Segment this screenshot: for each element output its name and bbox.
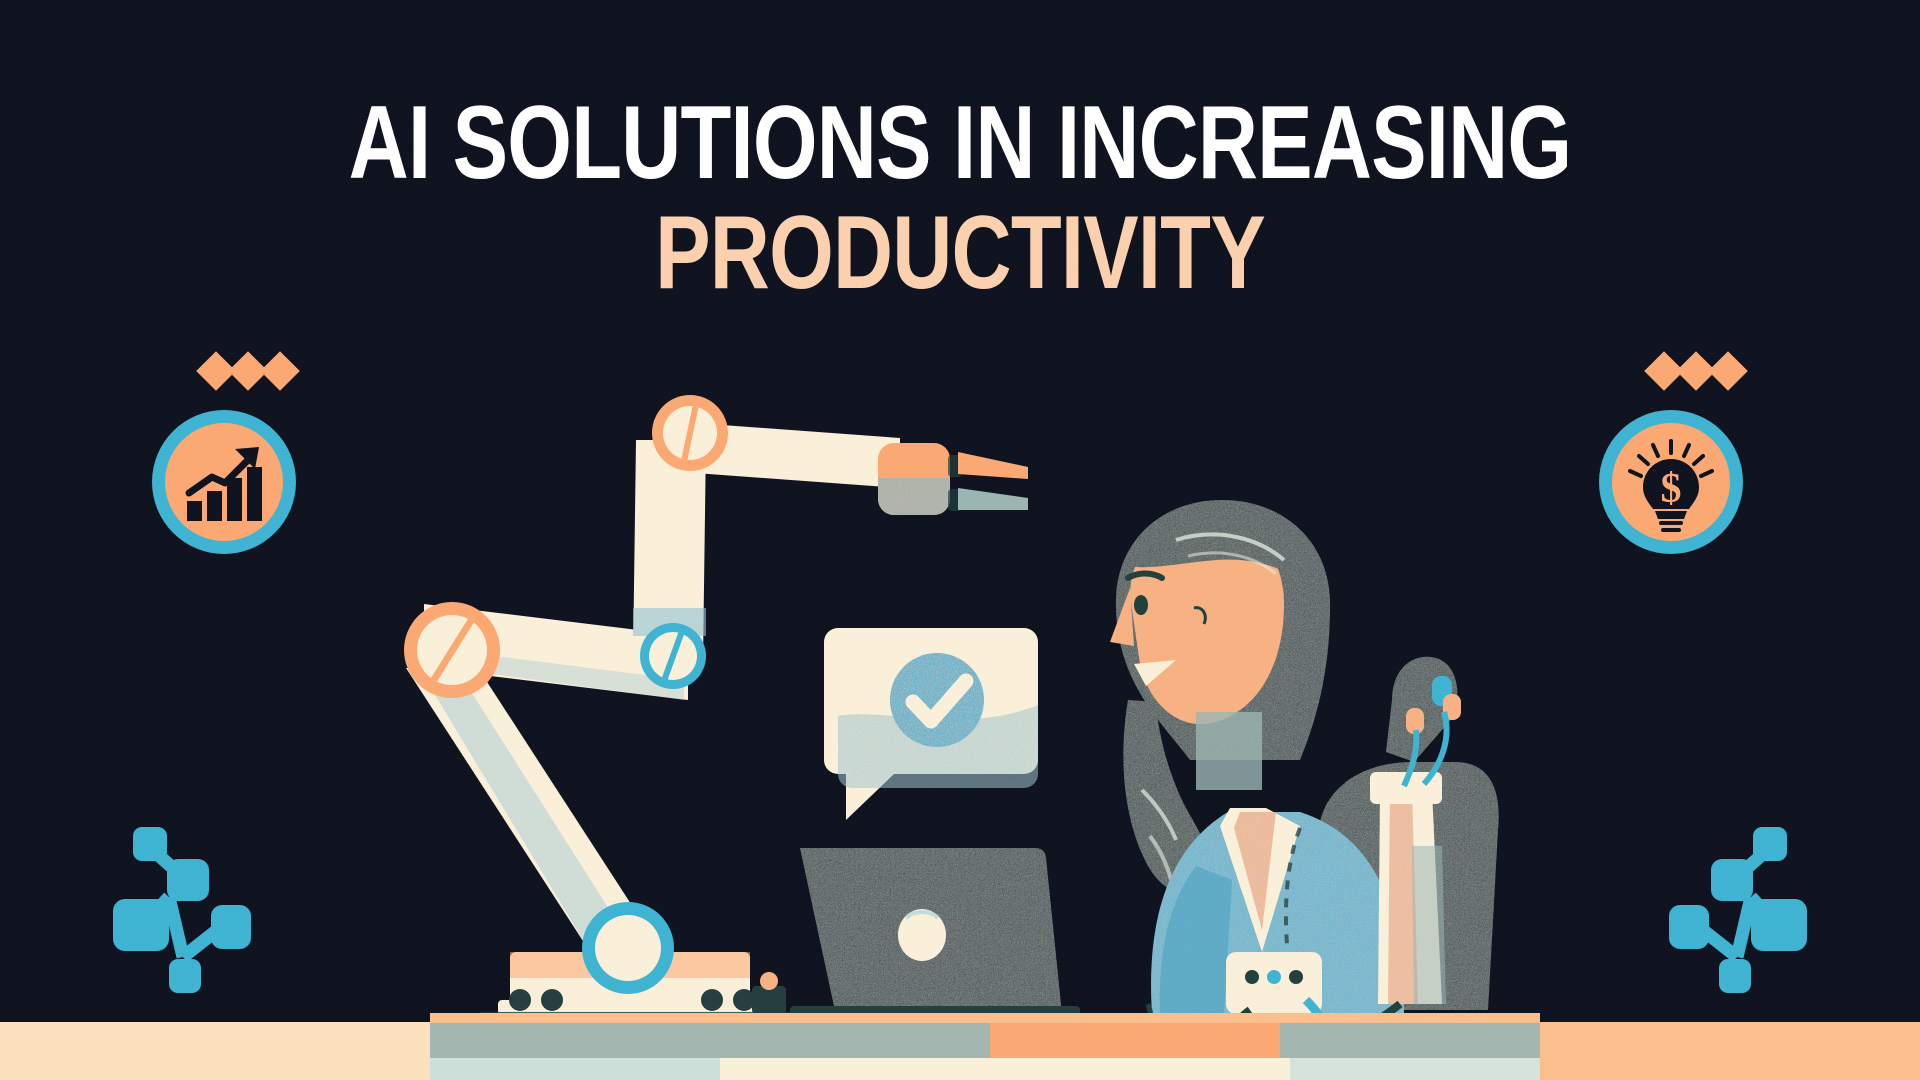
desk-band-shadow xyxy=(430,1023,1540,1058)
network-node-icon-right xyxy=(1655,815,1815,1000)
network-node-icon xyxy=(1655,815,1815,1000)
robot-joint-mid xyxy=(640,623,706,689)
growth-chart-badge xyxy=(165,423,283,541)
diamond-icon xyxy=(1708,351,1748,391)
diamond-icon xyxy=(260,351,300,391)
network-node-icon xyxy=(105,815,265,1000)
check-circle-icon xyxy=(890,653,984,747)
poster-canvas: AI SOLUTIONS IN INCREASING PRODUCTIVITY xyxy=(0,0,1920,1080)
robot-joint-elbow xyxy=(404,602,500,698)
desk-gadget xyxy=(752,972,786,1014)
desk-front-grain-right xyxy=(1290,1058,1540,1080)
network-node-icon-left xyxy=(105,815,265,1000)
money-idea-badge: $ xyxy=(1612,423,1730,541)
laptop xyxy=(790,848,1080,1018)
diamond-trio-left xyxy=(200,357,296,385)
approval-speech-bubble xyxy=(820,628,1050,820)
diamond-trio-right xyxy=(1648,357,1744,385)
desk-band-highlight xyxy=(990,1023,1280,1058)
bar-chart-growth-icon xyxy=(165,423,283,541)
robot-joint-shoulder xyxy=(652,395,728,471)
desk-front-grain-left xyxy=(430,1058,720,1080)
svg-text:$: $ xyxy=(1661,466,1682,512)
robot-joint-base xyxy=(582,902,674,994)
lightbulb-dollar-icon: $ xyxy=(1612,423,1730,541)
robot-gripper xyxy=(878,443,1028,515)
seated-professional xyxy=(1110,500,1404,1014)
